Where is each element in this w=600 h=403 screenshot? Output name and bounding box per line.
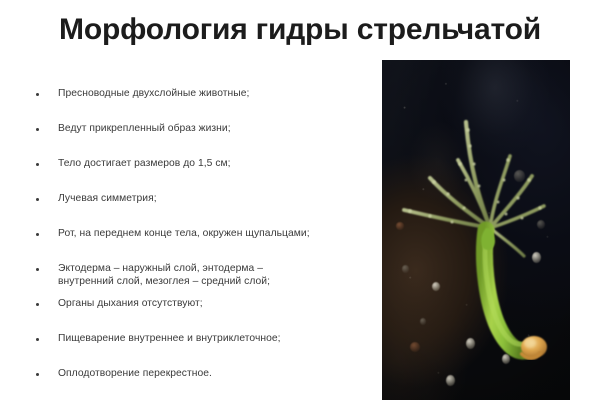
list-item-label: Пищеварение внутреннее и внутриклеточное… — [58, 333, 370, 346]
list-item: Пресноводные двухслойные животные; — [30, 88, 370, 123]
list-item-label: Тело достигает размеров до 1,5 см; — [58, 158, 370, 171]
list-item: Пищеварение внутреннее и внутриклеточное… — [30, 333, 370, 368]
presentation-slide: Морфология гидры стрельчатой Пресноводны… — [0, 0, 600, 400]
list-item: Тело достигает размеров до 1,5 см; — [30, 158, 370, 193]
bullet-point-icon — [36, 338, 39, 341]
list-item: Рот, на переднем конце тела, окружен щуп… — [30, 228, 370, 263]
list-item-label: Эктодерма – наружный слой, энтодерма – в… — [58, 263, 370, 288]
list-item-label: Органы дыхания отсутствуют; — [58, 298, 370, 311]
hydra-photograph — [382, 60, 570, 400]
bullet-point-icon — [36, 128, 39, 131]
bullet-point-icon — [36, 163, 39, 166]
page-title: Морфология гидры стрельчатой — [0, 11, 600, 49]
list-item-label: Пресноводные двухслойные животные; — [58, 88, 370, 101]
list-item: Оплодотворение перекрестное. — [30, 368, 370, 403]
bullet-point-icon — [36, 198, 39, 201]
photo-vignette — [382, 60, 570, 400]
list-item: Ведут прикрепленный образ жизни; — [30, 123, 370, 158]
bullet-list: Пресноводные двухслойные животные; Ведут… — [30, 88, 370, 403]
list-item-label: Рот, на переднем конце тела, окружен щуп… — [58, 228, 370, 241]
bullet-point-icon — [36, 373, 39, 376]
bullet-point-icon — [36, 268, 39, 271]
list-item-label: Ведут прикрепленный образ жизни; — [58, 123, 370, 136]
list-item: Лучевая симметрия; — [30, 193, 370, 228]
list-item-label: Лучевая симметрия; — [58, 193, 370, 206]
bullet-point-icon — [36, 303, 39, 306]
list-item-label: Оплодотворение перекрестное. — [58, 368, 370, 381]
list-item: Органы дыхания отсутствуют; — [30, 298, 370, 333]
list-item: Эктодерма – наружный слой, энтодерма – в… — [30, 263, 370, 298]
bullet-point-icon — [36, 93, 39, 96]
bullet-point-icon — [36, 233, 39, 236]
